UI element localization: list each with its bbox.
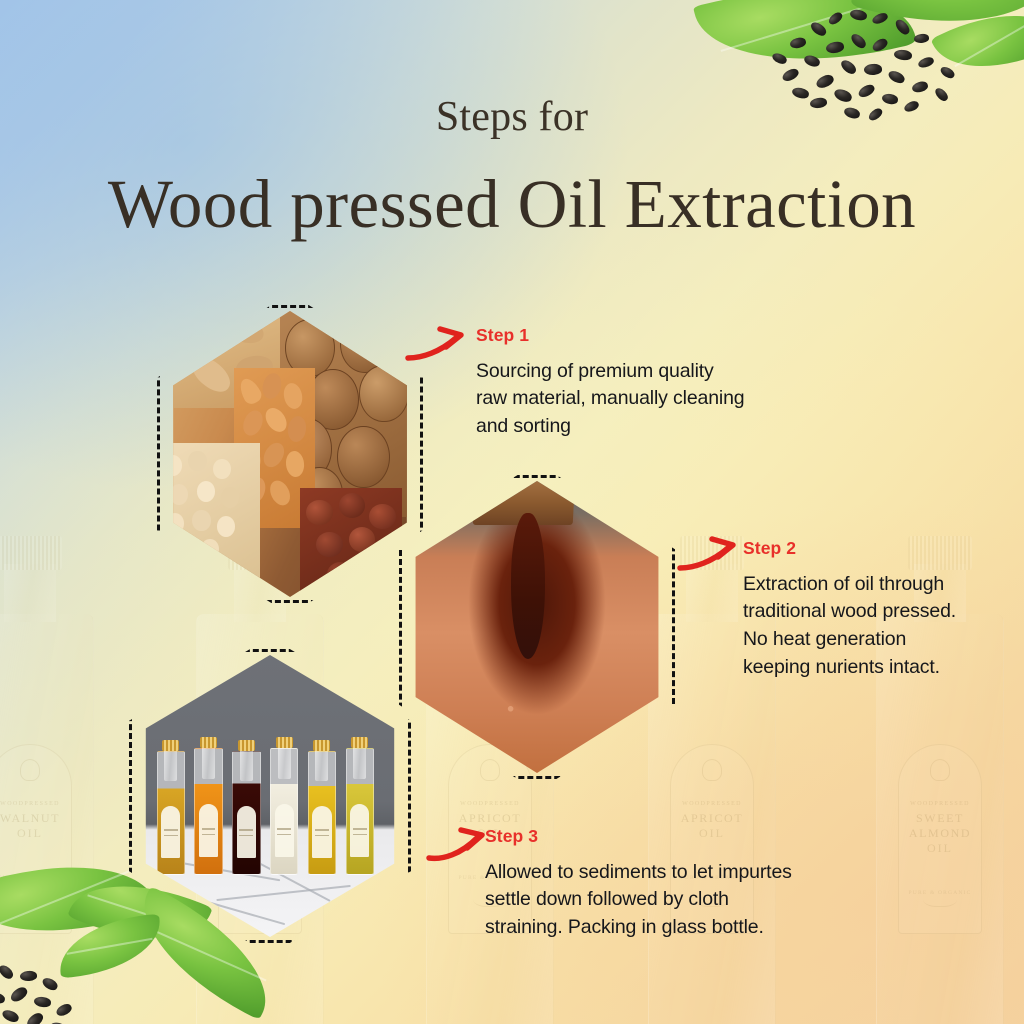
- step-2-text-block: Step 2 Extraction of oil through traditi…: [743, 540, 1024, 681]
- watermark-title: SWEET ALMOND: [899, 811, 981, 841]
- watermark-oil-text: OIL: [17, 826, 43, 841]
- step-2-label: Step 2: [743, 540, 1024, 558]
- step-3-text-block: Step 3 Allowed to sediments to let impur…: [485, 828, 905, 942]
- step-1-text-block: Step 1 Sourcing of premium quality raw m…: [476, 327, 806, 441]
- watermark-small-text: WOODPRESSED: [910, 801, 970, 807]
- step-2-body: Extraction of oil through traditional wo…: [743, 571, 1024, 682]
- watermark-title: APRICOT: [681, 811, 744, 826]
- curved-arrow-icon: [404, 312, 478, 364]
- watermark-small-text: WOODPRESSED: [682, 801, 742, 807]
- watermark-small-text: WOODPRESSED: [460, 801, 520, 807]
- watermark-title: WALNUT: [0, 811, 60, 826]
- nigella-seed-pile: [0, 947, 150, 1024]
- curved-arrow-icon: [676, 530, 750, 582]
- header: Steps for Wood pressed Oil Extraction: [0, 96, 1024, 239]
- step-3-body: Allowed to sediments to let impurtes set…: [485, 859, 905, 942]
- step-1-label: Step 1: [476, 327, 806, 345]
- page-subtitle: Steps for: [0, 96, 1024, 138]
- step-1-body: Sourcing of premium quality raw material…: [476, 358, 806, 441]
- watermark-oil-text: OIL: [927, 841, 953, 856]
- page-title: Wood pressed Oil Extraction: [0, 170, 1024, 239]
- watermark-small-text: WOODPRESSED: [0, 801, 60, 807]
- step-3-label: Step 3: [485, 828, 905, 846]
